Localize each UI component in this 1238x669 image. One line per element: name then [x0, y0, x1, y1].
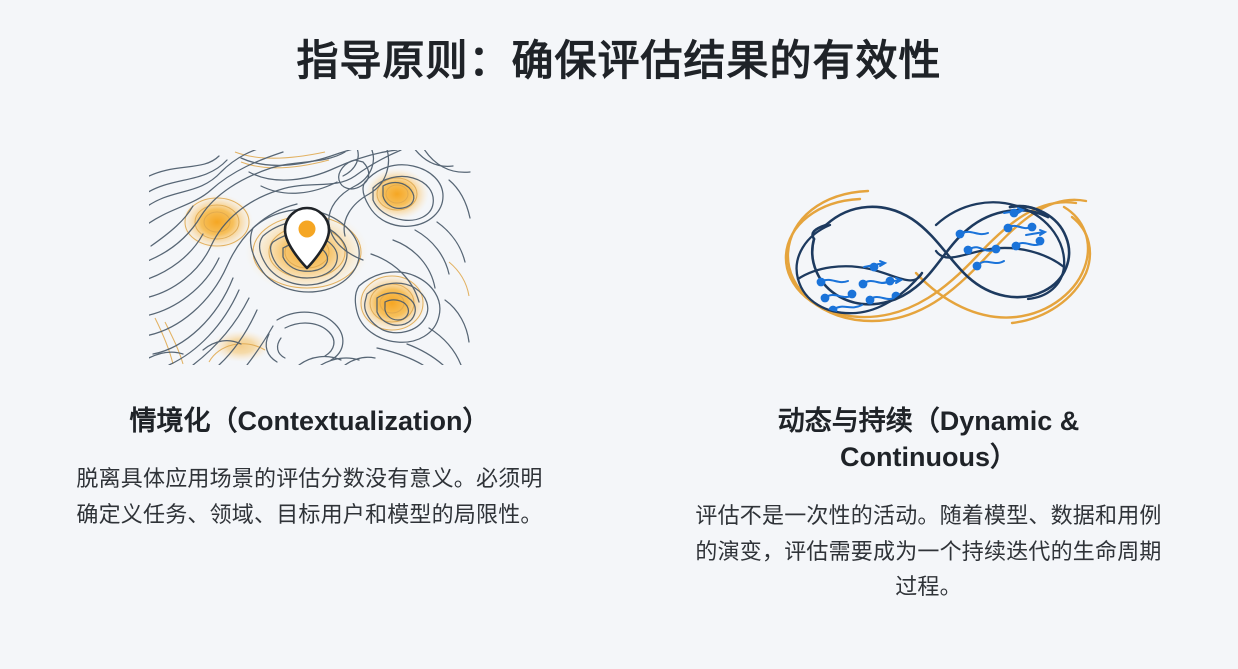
card-heading-contextualization: 情境化（Contextualization） — [75, 403, 545, 439]
infinity-loop-illustration — [764, 163, 1094, 353]
topographic-contour-map-illustration — [149, 150, 471, 365]
card-body-contextualization: 脱离具体应用场景的评估分数没有意义。必须明确定义任务、领域、目标用户和模型的局限… — [69, 461, 551, 532]
cards-row: 情境化（Contextualization） 脱离具体应用场景的评估分数没有意义… — [0, 150, 1238, 650]
data-nodes-top — [955, 208, 1044, 270]
card-contextualization: 情境化（Contextualization） 脱离具体应用场景的评估分数没有意义… — [0, 150, 619, 650]
illustration-container-left — [0, 150, 619, 365]
illustration-container-right — [619, 150, 1238, 365]
card-heading-dynamic-continuous: 动态与持续（Dynamic & Continuous） — [714, 403, 1144, 476]
card-dynamic-continuous: 动态与持续（Dynamic & Continuous） 评估不是一次性的活动。随… — [619, 150, 1238, 650]
card-body-dynamic-continuous: 评估不是一次性的活动。随着模型、数据和用例的演变，评估需要成为一个持续迭代的生命… — [688, 498, 1170, 605]
slide-root: 指导原则：确保评估结果的有效性 — [0, 0, 1238, 669]
page-title: 指导原则：确保评估结果的有效性 — [0, 36, 1238, 86]
data-nodes-bottom — [816, 261, 900, 314]
